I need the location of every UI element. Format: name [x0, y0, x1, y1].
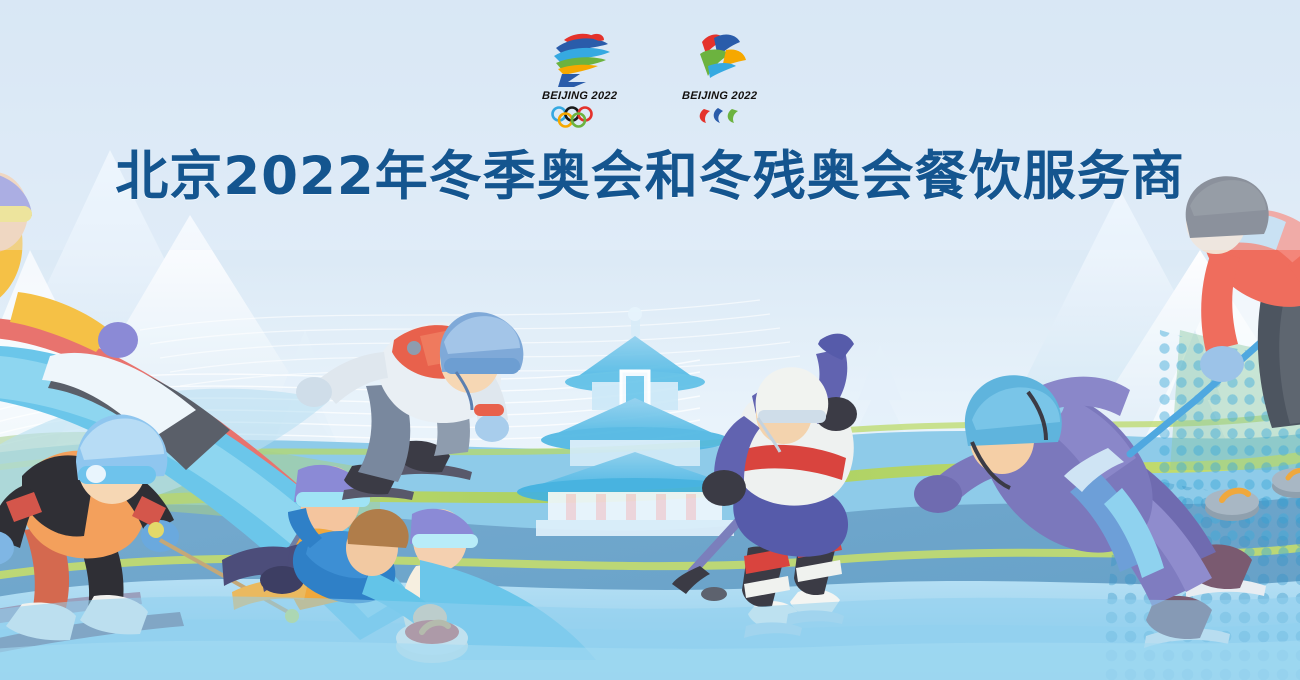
olympic-rings-icon: [548, 105, 612, 129]
paralympic-logo-block: BEIJING 2022: [674, 30, 766, 127]
curling-stone-right: [1205, 489, 1259, 521]
beijing-2022-paralympic-emblem-icon: [674, 30, 766, 88]
paralympic-agitos-icon: [696, 105, 744, 127]
beijing-2022-banner: BEIJING 2022 BEIJING 2022: [0, 0, 1300, 680]
page-title-text: 北京2022年冬季奥会和冬残奥会餐饮服务商: [115, 146, 1185, 208]
page-title: 北京2022年冬季奥会和冬残奥会餐饮服务商: [0, 146, 1300, 208]
paralympic-wordmark: BEIJING 2022: [682, 90, 758, 102]
olympic-logo-block: BEIJING 2022: [534, 30, 626, 129]
beijing-2022-olympic-emblem-icon: [534, 30, 626, 88]
olympic-wordmark: BEIJING 2022: [542, 90, 618, 102]
logo-row: BEIJING 2022 BEIJING 2022: [0, 30, 1300, 140]
